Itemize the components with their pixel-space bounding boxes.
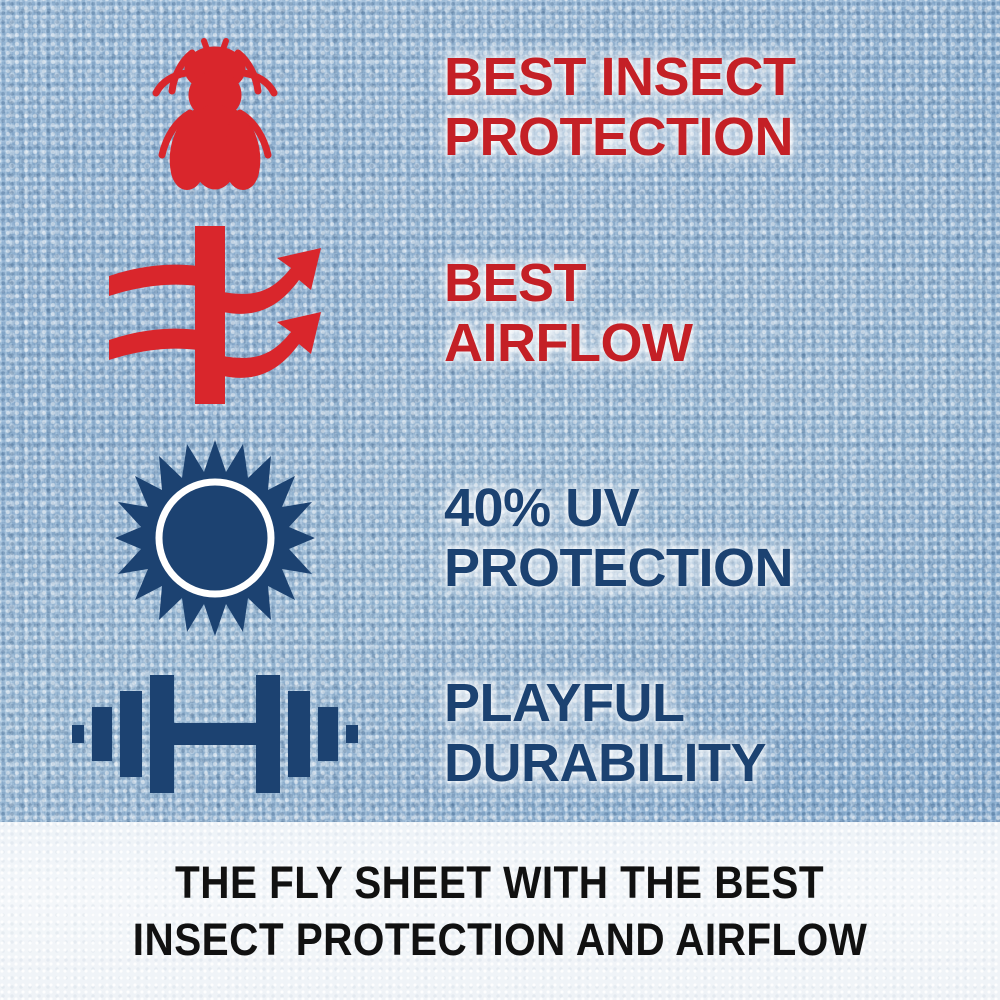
sun-uv-icon: [115, 438, 315, 638]
dumbbell-icon: [70, 663, 360, 803]
label-cell-uv: 40% UV PROTECTION: [430, 478, 1000, 598]
icon-cell-airflow: [0, 218, 430, 408]
feature-row-durability: PLAYFUL DURABILITY: [0, 648, 1000, 818]
footer-caption-line-2: INSECT PROTECTION AND AIRFLOW: [133, 911, 868, 968]
feature-row-insect-protection: BEST INSECT PROTECTION: [0, 12, 1000, 202]
feature-label-durability: PLAYFUL DURABILITY: [444, 673, 1000, 793]
icon-cell-durability: [0, 663, 430, 803]
label-cell-insect: BEST INSECT PROTECTION: [430, 47, 1000, 167]
fly-icon: [130, 17, 300, 197]
label-cell-airflow: BEST AIRFLOW: [430, 253, 1000, 373]
feature-row-uv-protection: 40% UV PROTECTION: [0, 438, 1000, 638]
feature-row-airflow: BEST AIRFLOW: [0, 218, 1000, 408]
feature-label-airflow: BEST AIRFLOW: [444, 253, 1000, 373]
product-feature-infographic: BEST INSECT PROTECTION BEST AIRFL: [0, 0, 1000, 1000]
icon-cell-uv: [0, 438, 430, 638]
label-cell-durability: PLAYFUL DURABILITY: [430, 673, 1000, 793]
feature-label-uv-protection: 40% UV PROTECTION: [444, 478, 1000, 598]
footer-caption-band: THE FLY SHEET WITH THE BEST INSECT PROTE…: [0, 822, 1000, 1000]
feature-label-insect-protection: BEST INSECT PROTECTION: [444, 47, 1000, 167]
footer-caption-line-1: THE FLY SHEET WITH THE BEST: [176, 854, 825, 911]
airflow-through-barrier-icon: [95, 218, 335, 408]
icon-cell-insect: [0, 17, 430, 197]
